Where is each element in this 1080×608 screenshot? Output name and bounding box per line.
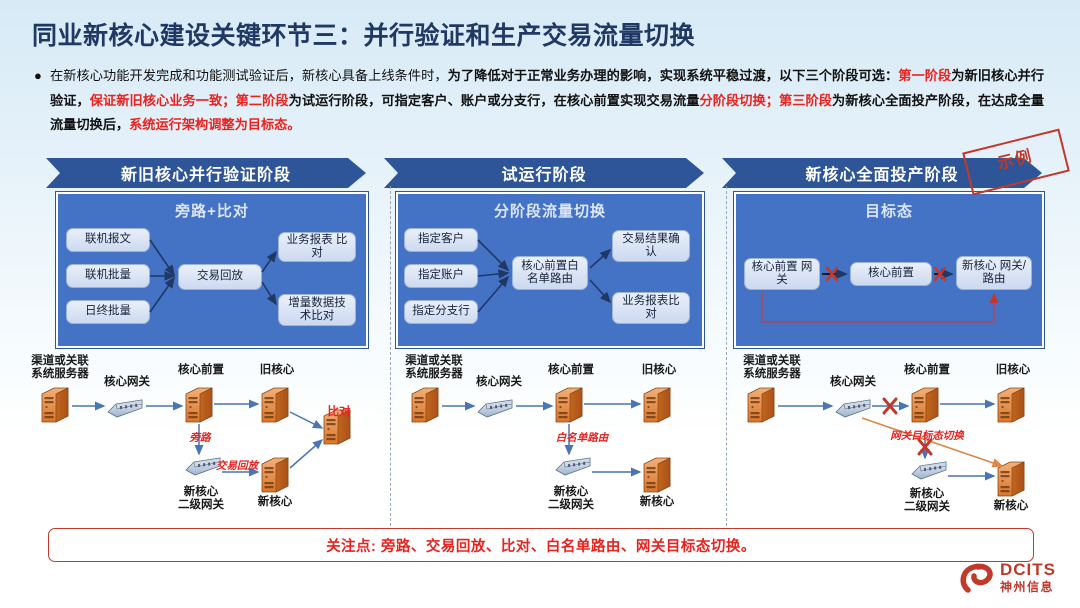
phase-2-input-3[interactable]: 指定分支行 bbox=[404, 300, 478, 324]
panel-separator-1 bbox=[390, 186, 391, 526]
s2-newcore-label: 新核心 bbox=[626, 496, 688, 509]
s3-newgateway-label: 新核心 二级网关 bbox=[894, 488, 960, 514]
paragraph-segment: 为了降低对于正常业务办理的影响，实现系统平稳过渡，以下三个阶段可选： bbox=[448, 68, 899, 83]
phase-3-flow-2[interactable]: 核心前置 bbox=[850, 262, 932, 286]
phase-header-2[interactable]: 试运行阶段 bbox=[384, 158, 704, 188]
phase-2-output-1[interactable]: 交易结果确 认 bbox=[612, 230, 690, 262]
paragraph-segment: 分阶段切换； bbox=[699, 93, 778, 108]
phase-header-1[interactable]: 新旧核心并行验证阶段 bbox=[46, 158, 366, 188]
phase-1-output-2[interactable]: 增量数据技 术比对 bbox=[278, 294, 356, 326]
paragraph-segment: 为试运行阶段，可指定客户、账户或分支行，在核心前置实现交易流量 bbox=[289, 93, 700, 108]
s2-gateway-label: 核心网关 bbox=[468, 376, 530, 389]
s2-edge-label-whitelist: 白名单路由 bbox=[548, 432, 616, 445]
phase-1-hub[interactable]: 交易回放 bbox=[178, 264, 262, 290]
phase-1-input-1[interactable]: 联机报文 bbox=[66, 228, 150, 252]
paragraph-segment: 第三阶段 bbox=[779, 93, 832, 108]
s2-channel-label: 渠道或关联 系统服务器 bbox=[392, 355, 476, 381]
s1-edge-label-replay: 交易回放 bbox=[208, 460, 266, 473]
phase-1-input-3[interactable]: 日终批量 bbox=[66, 300, 150, 324]
s3-frontend-label: 核心前置 bbox=[896, 364, 958, 377]
s1-channel-label: 渠道或关联 系统服务器 bbox=[18, 355, 102, 381]
bullet-text: 在新核心功能开发完成和功能测试验证后，新核心具备上线条件时，为了降低对于正常业务… bbox=[50, 64, 1044, 138]
paragraph-segment: 系统运行架构调整为目标态。 bbox=[129, 117, 300, 132]
paragraph-segment: 第一阶段 bbox=[898, 68, 951, 83]
s3-gateway-label: 核心网关 bbox=[822, 376, 884, 389]
phase-3-flow-3[interactable]: 新核心 网关/路由 bbox=[956, 256, 1032, 290]
phase-1-panel-title: 旁路+比对 bbox=[58, 200, 366, 221]
s1-gateway-label: 核心网关 bbox=[96, 376, 158, 389]
s3-channel-label: 渠道或关联 系统服务器 bbox=[730, 355, 814, 381]
page-title: 同业新核心建设关键环节三：并行验证和生产交易流量切换 bbox=[32, 16, 695, 52]
phase-1-output-1[interactable]: 业务报表 比对 bbox=[278, 232, 356, 262]
paragraph-segment: 第二阶段 bbox=[236, 93, 289, 108]
s2-oldcore-label: 旧核心 bbox=[632, 364, 686, 377]
s3-newcore-label: 新核心 bbox=[980, 500, 1042, 513]
footnote-box: 关注点: 旁路、交易回放、比对、白名单路由、网关目标态切换。 bbox=[48, 528, 1034, 562]
s1-frontend-label: 核心前置 bbox=[170, 364, 232, 377]
s3-oldcore-label: 旧核心 bbox=[986, 364, 1040, 377]
s3-edge-label-gateway-switch: 网关目标态切换 bbox=[880, 430, 974, 443]
phase-3-flow-1[interactable]: 核心前置 网关 bbox=[744, 258, 820, 290]
phase-2-hub[interactable]: 核心前置白 名单路由 bbox=[512, 256, 588, 290]
logo-text-en: DCITS bbox=[1000, 560, 1056, 580]
s1-edge-label-bypass: 旁路 bbox=[180, 432, 220, 445]
s1-newgateway-label: 新核心 二级网关 bbox=[168, 486, 234, 512]
logo-text-cn: 神州信息 bbox=[1000, 578, 1054, 595]
slide-canvas: 同业新核心建设关键环节三：并行验证和生产交易流量切换 ● 在新核心功能开发完成和… bbox=[0, 0, 1080, 608]
paragraph-segment: 在新核心功能开发完成和功能测试验证后，新核心具备上线条件时， bbox=[50, 68, 448, 83]
paragraph-segment: 保证新旧核心业务一致； bbox=[90, 93, 236, 108]
phase-3-panel-title: 目标态 bbox=[736, 200, 1042, 221]
phase-2-panel-title: 分阶段流量切换 bbox=[398, 200, 702, 221]
phase-1-input-2[interactable]: 联机批量 bbox=[66, 264, 150, 288]
bullet-marker: ● bbox=[34, 64, 50, 138]
phase-2-input-2[interactable]: 指定账户 bbox=[404, 264, 478, 288]
s1-newcore-label: 新核心 bbox=[244, 496, 306, 509]
s2-frontend-label: 核心前置 bbox=[540, 364, 602, 377]
s1-oldcore-label: 旧核心 bbox=[250, 364, 304, 377]
panel-separator-2 bbox=[726, 186, 727, 526]
bullet-paragraph: ● 在新核心功能开发完成和功能测试验证后，新核心具备上线条件时，为了降低对于正常… bbox=[34, 64, 1044, 138]
phase-2-output-2[interactable]: 业务报表比 对 bbox=[612, 292, 690, 324]
s1-compare-label: 比对 bbox=[316, 406, 362, 419]
phase-2-input-1[interactable]: 指定客户 bbox=[404, 228, 478, 252]
s2-newgateway-label: 新核心 二级网关 bbox=[538, 486, 604, 512]
